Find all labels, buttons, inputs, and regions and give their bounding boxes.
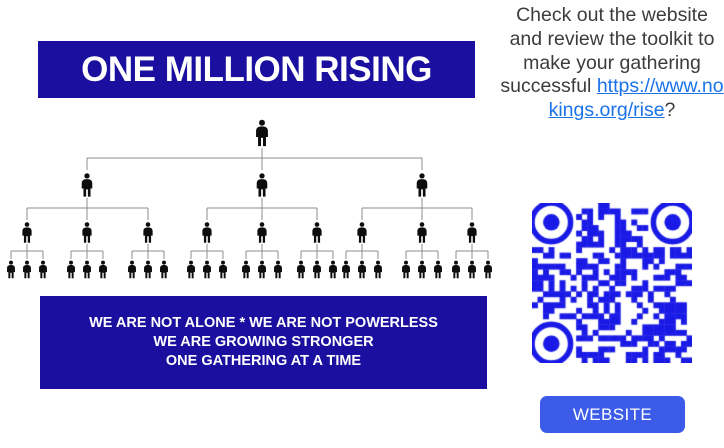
page-title: ONE MILLION RISING [81, 52, 432, 87]
flyer-left-panel: ONE MILLION RISING [0, 0, 500, 448]
call-to-action-text: Check out the website and review the too… [500, 4, 724, 123]
org-figure-level1 [256, 120, 268, 146]
qr-code[interactable] [532, 203, 692, 363]
website-button[interactable]: WEBSITE [540, 396, 685, 433]
org-figure-level4 [7, 261, 492, 279]
org-chart-svg [0, 110, 500, 285]
qr-code-canvas[interactable] [532, 203, 692, 363]
org-figure-level2 [82, 173, 428, 196]
flyer-right-panel: Check out the website and review the too… [500, 0, 724, 448]
org-chart-tree [0, 110, 500, 285]
slogan-banner: WE ARE NOT ALONE * WE ARE NOT POWERLESS … [40, 296, 487, 389]
slogan-line-1: WE ARE NOT ALONE * WE ARE NOT POWERLESS [89, 314, 438, 333]
slogan-line-3: ONE GATHERING AT A TIME [166, 352, 361, 371]
org-figure-level3 [22, 222, 476, 243]
title-banner: ONE MILLION RISING [38, 41, 475, 98]
slogan-line-2: WE ARE GROWING STRONGER [153, 333, 373, 352]
cta-trailing-punctuation: ? [665, 99, 676, 121]
